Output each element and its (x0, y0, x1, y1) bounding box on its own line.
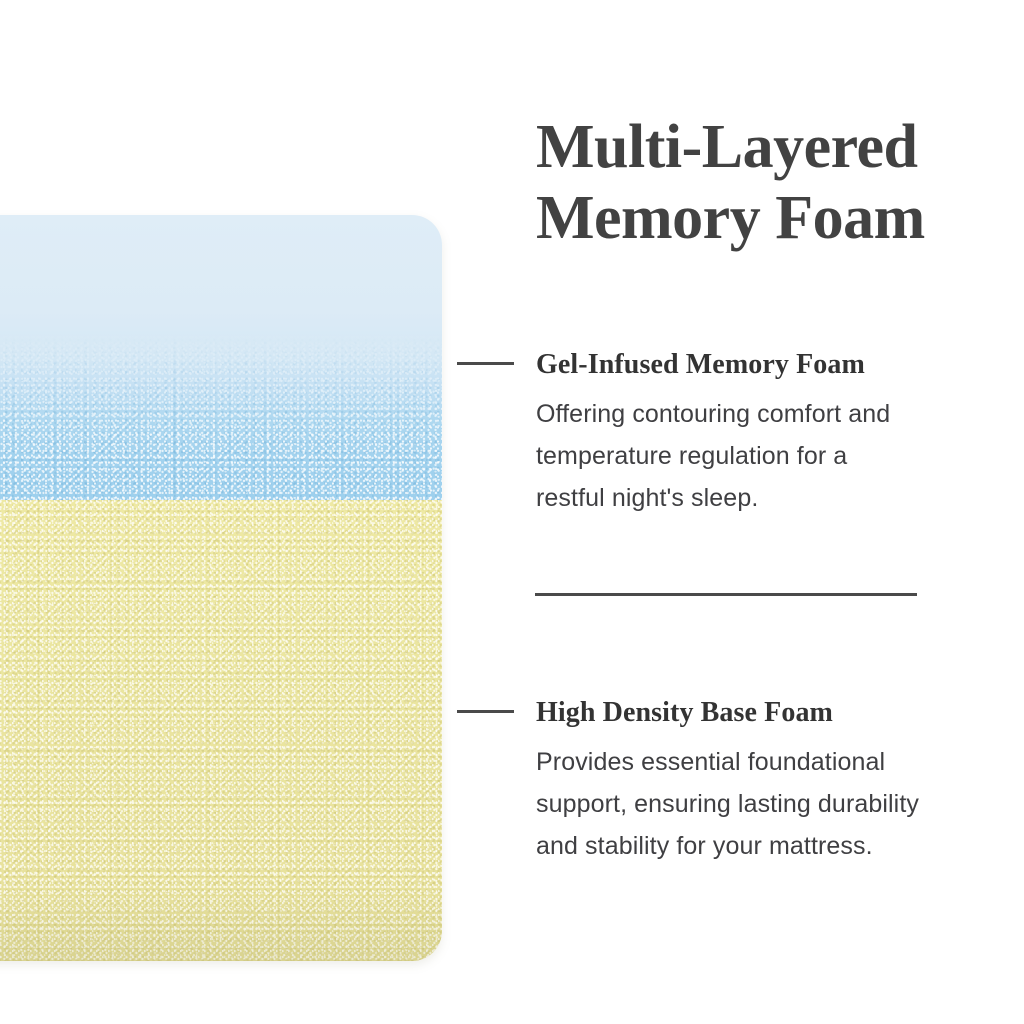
feature-description-line: Provides essential foundational (536, 741, 976, 783)
page-title: Multi-Layered Memory Foam (536, 112, 1006, 254)
foam-edge-shading (0, 891, 442, 961)
feature-description-line: temperature regulation for a (536, 435, 976, 477)
feature-description-line: restful night's sleep. (536, 477, 976, 519)
feature-title: Gel-Infused Memory Foam (536, 348, 865, 382)
foam-texture-overlay (0, 335, 442, 500)
feature-title: High Density Base Foam (536, 696, 833, 730)
feature-heading-row: High Density Base Foam (457, 696, 997, 732)
infographic-canvas: Multi-Layered Memory Foam Gel-Infused Me… (0, 0, 1024, 1024)
feature-description: Provides essential foundational support,… (536, 741, 976, 867)
section-divider (535, 593, 917, 596)
page-title-line-2: Memory Foam (536, 183, 1006, 254)
feature-description: Offering contouring comfort and temperat… (536, 393, 976, 519)
page-title-line-1: Multi-Layered (536, 112, 1006, 183)
feature-heading-row: Gel-Infused Memory Foam (457, 348, 997, 384)
feature-block-gel-infused-memory-foam: Gel-Infused Memory Foam Offering contour… (457, 348, 997, 519)
feature-description-line: and stability for your mattress. (536, 825, 976, 867)
gel-infused-memory-foam-layer (0, 215, 442, 500)
feature-block-high-density-base-foam: High Density Base Foam Provides essentia… (457, 696, 997, 867)
mattress-foam-cutaway-image (0, 215, 442, 961)
dash-marker-icon (457, 710, 514, 713)
high-density-base-foam-layer (0, 500, 442, 961)
feature-description-line: support, ensuring lasting durability (536, 783, 976, 825)
dash-marker-icon (457, 362, 514, 365)
feature-description-line: Offering contouring comfort and (536, 393, 976, 435)
